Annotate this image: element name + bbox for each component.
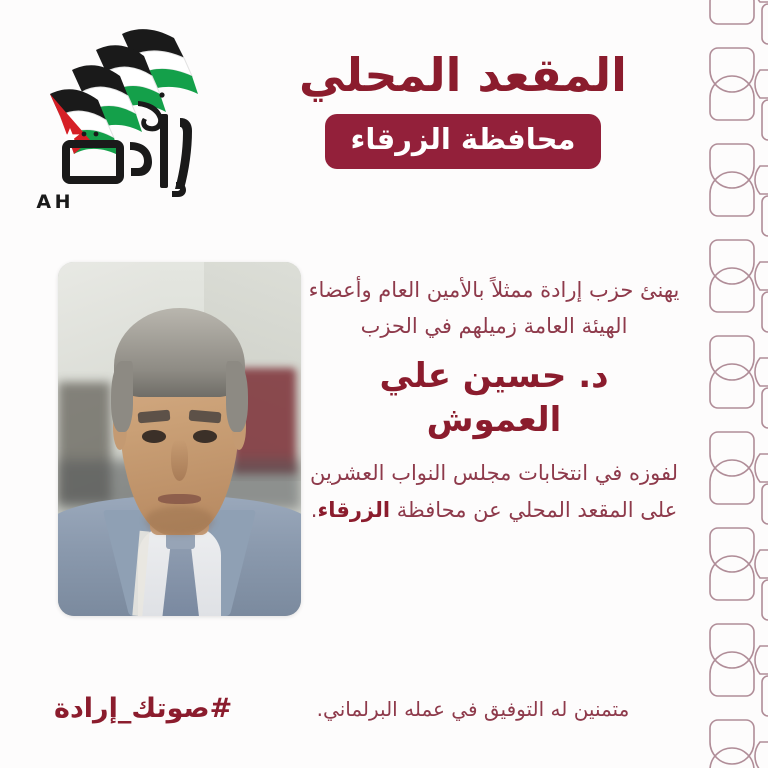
badge-wrap: محافظة الزرقاء [253, 114, 673, 168]
honoree-photo [58, 262, 301, 616]
photo-scene [58, 262, 301, 616]
honoree-name: د. حسين علي العموش [308, 354, 680, 442]
closing-wish-text: متمنين له التوفيق في عمله البرلماني. [273, 694, 673, 724]
governorate-badge: محافظة الزرقاء [325, 114, 602, 168]
party-logo: ERADAH [34, 22, 214, 212]
decorative-lattice-pattern [690, 0, 768, 768]
campaign-hashtag: #صوتك_إرادة [54, 693, 232, 724]
congratulation-lead-text: يهنئ حزب إرادة ممثلاً بالأمين العام وأعض… [308, 272, 680, 344]
congratulation-poster: ERADAH المقعد المحلي محافظة الزرقاء [0, 0, 768, 768]
reason-emphasis: الزرقاء [317, 498, 390, 522]
flags-icon [50, 29, 198, 156]
header: المقعد المحلي محافظة الزرقاء [253, 48, 673, 169]
message-block: يهنئ حزب إرادة ممثلاً بالأمين العام وأعض… [308, 272, 680, 529]
page-title: المقعد المحلي [253, 48, 673, 102]
logo-latin-name: ERADAH [34, 191, 74, 212]
reason-text: لفوزه في انتخابات مجلس النواب العشرين عل… [308, 455, 680, 530]
